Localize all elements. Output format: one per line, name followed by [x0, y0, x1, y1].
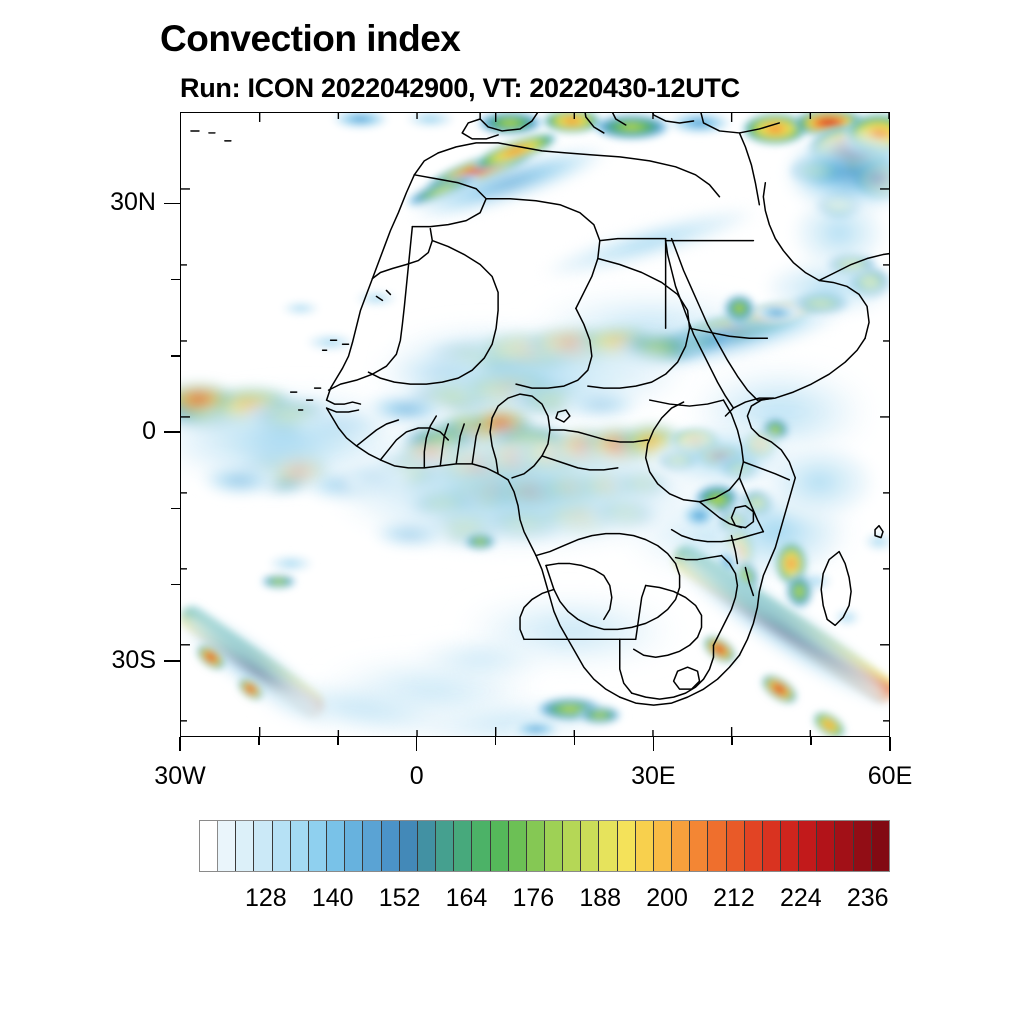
colorbar-cell — [763, 821, 781, 871]
colorbar-cell — [636, 821, 654, 871]
colorbar-tick-label: 188 — [579, 884, 621, 913]
y-tick-label: 30S — [112, 646, 156, 675]
colorbar-cell — [436, 821, 454, 871]
x-tick-mark — [337, 737, 339, 745]
colorbar-cell — [509, 821, 527, 871]
y-tick-mark — [171, 584, 180, 586]
colorbar-cell — [491, 821, 509, 871]
colorbar-cell — [781, 821, 799, 871]
colorbar-cell — [581, 821, 599, 871]
map-canvas — [181, 113, 889, 736]
colorbar-cell — [418, 821, 436, 871]
y-tick-mark — [171, 508, 180, 510]
y-tick-mark — [164, 203, 180, 205]
colorbar-cell — [835, 821, 853, 871]
colorbar-tick-label: 128 — [245, 884, 287, 913]
colorbar-cell — [273, 821, 291, 871]
x-tick-mark — [258, 737, 260, 745]
x-tick-mark — [574, 737, 576, 745]
x-tick-label: 30E — [631, 762, 675, 791]
x-tick-mark — [416, 737, 418, 751]
x-tick-mark — [179, 737, 181, 751]
colorbar-tick-label: 140 — [312, 884, 354, 913]
colorbar-cell — [599, 821, 617, 871]
colorbar-cell — [654, 821, 672, 871]
colorbar-cell — [454, 821, 472, 871]
colorbar-tick-label: 152 — [379, 884, 421, 913]
page-title: Convection index — [160, 18, 460, 60]
x-tick-mark — [731, 737, 733, 745]
run-valid-time-subtitle: Run: ICON 2022042900, VT: 20220430-12UTC — [180, 73, 740, 104]
colorbar[interactable] — [199, 820, 890, 872]
colorbar-cell — [472, 821, 490, 871]
colorbar-cell — [872, 821, 889, 871]
x-tick-mark — [889, 737, 891, 751]
colorbar-cell — [727, 821, 745, 871]
colorbar-cell — [708, 821, 726, 871]
x-tick-mark — [653, 737, 655, 751]
colorbar-cell — [618, 821, 636, 871]
y-tick-mark — [164, 660, 180, 662]
y-tick-mark — [171, 279, 180, 281]
colorbar-tick-label: 224 — [780, 884, 822, 913]
colorbar-cell — [400, 821, 418, 871]
x-tick-label: 30W — [154, 762, 205, 791]
colorbar-cell — [854, 821, 872, 871]
y-tick-mark — [171, 355, 180, 357]
x-tick-label: 60E — [868, 762, 912, 791]
map-plot-area — [180, 112, 890, 737]
x-tick-mark — [495, 737, 497, 745]
colorbar-cell — [527, 821, 545, 871]
x-tick-mark — [810, 737, 812, 745]
y-tick-label: 0 — [142, 417, 156, 446]
colorbar-cell — [327, 821, 345, 871]
colorbar-cell — [799, 821, 817, 871]
colorbar-cell — [200, 821, 218, 871]
colorbar-cell — [563, 821, 581, 871]
colorbar-tick-label: 176 — [512, 884, 554, 913]
y-tick-mark — [164, 431, 180, 433]
colorbar-cell — [745, 821, 763, 871]
colorbar-cell — [817, 821, 835, 871]
colorbar-cell — [382, 821, 400, 871]
colorbar-cell — [291, 821, 309, 871]
colorbar-cell — [218, 821, 236, 871]
convection-index-figure: Convection index Run: ICON 2022042900, V… — [0, 0, 1024, 1024]
colorbar-cell — [672, 821, 690, 871]
x-tick-label: 0 — [410, 762, 424, 791]
colorbar-tick-label: 200 — [646, 884, 688, 913]
colorbar-tick-label: 236 — [847, 884, 889, 913]
colorbar-cell — [345, 821, 363, 871]
colorbar-cell — [236, 821, 254, 871]
colorbar-cell — [309, 821, 327, 871]
colorbar-cell — [254, 821, 272, 871]
colorbar-cell — [545, 821, 563, 871]
colorbar-tick-label: 212 — [713, 884, 755, 913]
colorbar-tick-label: 164 — [446, 884, 488, 913]
y-tick-label: 30N — [110, 188, 156, 217]
colorbar-cell — [363, 821, 381, 871]
colorbar-cell — [690, 821, 708, 871]
